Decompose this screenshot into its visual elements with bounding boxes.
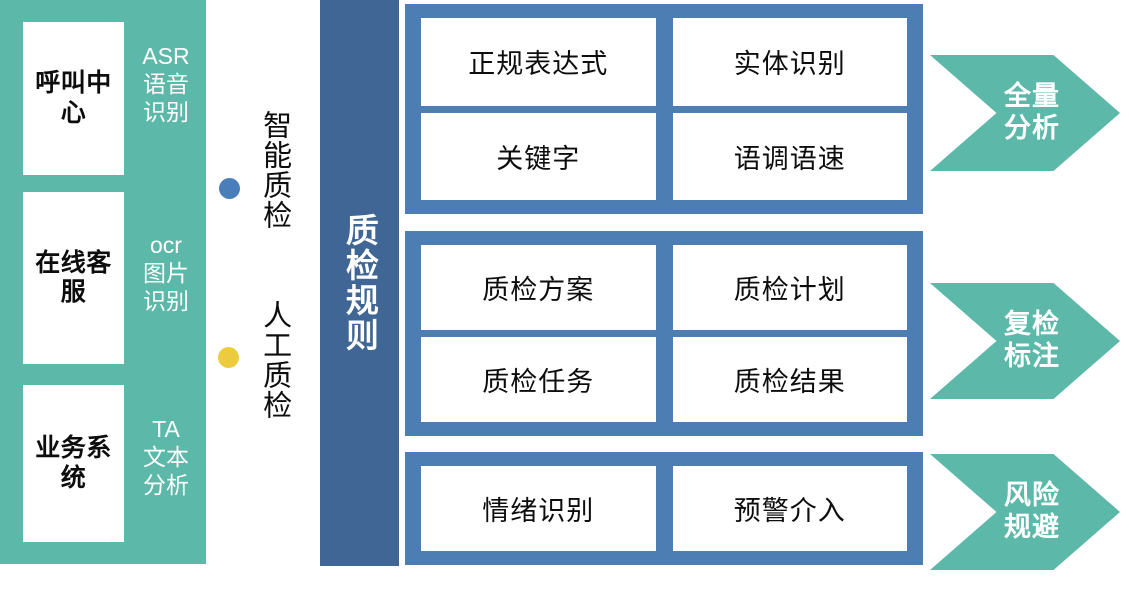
risk-cell-label: 情绪识别 [482,489,594,528]
source-box-call-center[interactable]: 呼叫中心 [23,22,124,175]
bullet-intelligent-inspection [219,178,240,199]
source-tag-ocr: ocr图片识别 [130,231,202,315]
source-box-business-system[interactable]: 业务系统 [23,385,124,542]
workflow-cell-label: 质检结果 [734,360,846,399]
outcome-chevron-label: 风险规避 [1004,480,1060,544]
source-tag-ta: TA文本分析 [130,415,202,499]
rule-cell-label: 语调语速 [734,137,846,176]
rule-cell[interactable]: 实体识别 [673,18,908,106]
quality-rules-title: 质检规则 [342,213,378,353]
rule-cell[interactable]: 语调语速 [673,113,908,201]
diagram-canvas: 呼叫中心 ASR语音识别 在线客服 ocr图片识别 业务系统 TA文本分析 智能… [0,0,1129,603]
group-inspection-workflow: 质检方案 质检计划 质检任务 质检结果 [405,231,923,436]
source-box-label: 呼叫中心 [23,69,124,128]
workflow-cell[interactable]: 质检任务 [421,337,656,422]
group-risk-monitoring: 情绪识别 预警介入 [405,452,923,565]
risk-cell-label: 预警介入 [734,489,846,528]
workflow-cell[interactable]: 质检计划 [673,245,908,330]
workflow-cell-label: 质检任务 [482,360,594,399]
rule-cell-label: 实体识别 [734,42,846,81]
rule-cell[interactable]: 关键字 [421,113,656,201]
group-rule-engine: 正规表达式 实体识别 关键字 语调语速 [405,4,923,214]
quality-rules-bar[interactable]: 质检规则 [320,0,399,566]
outcome-chevron-label: 复检标注 [1004,309,1060,373]
risk-cell[interactable]: 预警介入 [673,466,908,551]
outcome-chevron-recheck-annotation[interactable]: 复检标注 [930,283,1120,399]
mode-label-intelligent-inspection: 智能质检 [259,110,289,230]
rule-cell[interactable]: 正规表达式 [421,18,656,106]
rule-cell-label: 关键字 [496,137,580,176]
bullet-manual-inspection [218,347,239,368]
risk-cell[interactable]: 情绪识别 [421,466,656,551]
outcome-chevron-label: 全量分析 [1004,81,1060,145]
outcome-chevron-risk-avoidance[interactable]: 风险规避 [930,454,1120,570]
workflow-cell[interactable]: 质检方案 [421,245,656,330]
source-tag-asr: ASR语音识别 [130,42,202,126]
outcome-chevron-full-analysis[interactable]: 全量分析 [930,55,1120,171]
rule-cell-label: 正规表达式 [468,42,608,81]
workflow-cell-label: 质检方案 [482,268,594,307]
mode-label-manual-inspection: 人工质检 [259,300,289,420]
workflow-cell-label: 质检计划 [734,268,846,307]
source-box-online-service[interactable]: 在线客服 [23,192,124,364]
workflow-cell[interactable]: 质检结果 [673,337,908,422]
source-box-label: 在线客服 [23,249,124,308]
source-box-label: 业务系统 [23,434,124,493]
